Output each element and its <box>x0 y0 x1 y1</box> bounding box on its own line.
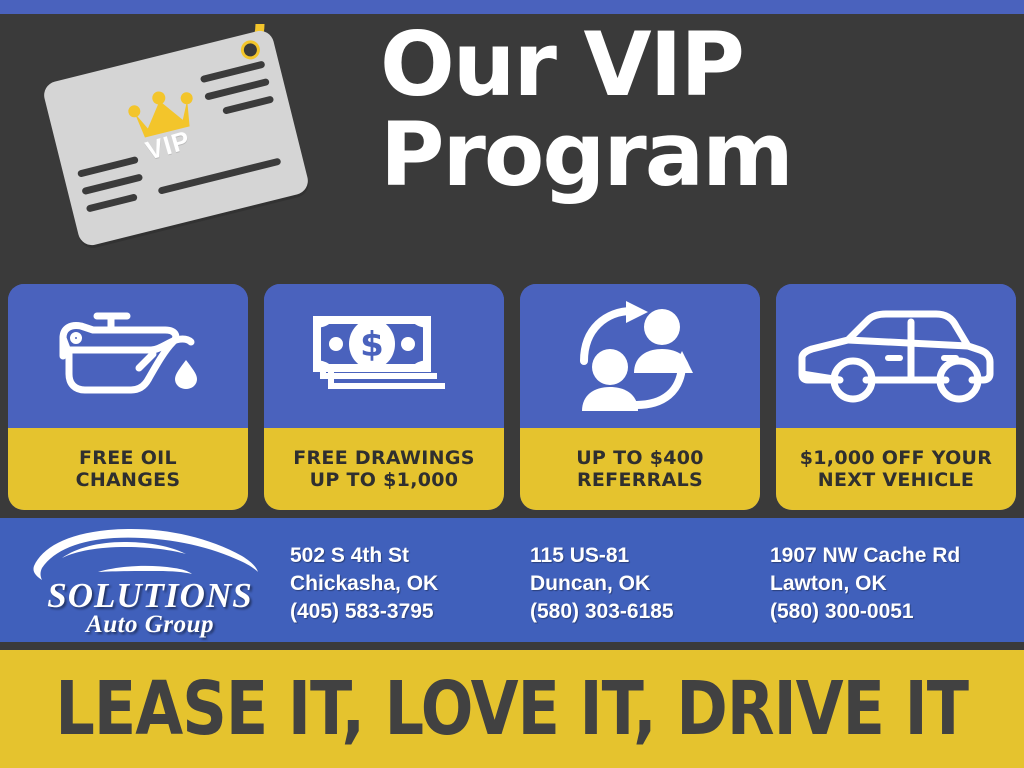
logo-subtitle: Auto Group <box>34 612 266 637</box>
tagline-text: LEASE IT, LOVE IT, DRIVE IT <box>56 672 969 746</box>
benefit-card-icon-area <box>776 284 1016 428</box>
benefit-card-label: FREE DRAWINGS UP TO $1,000 <box>264 428 504 510</box>
vip-card-detail-line <box>86 193 138 212</box>
location-chickasha: 502 S 4th St Chickasha, OK (405) 583-379… <box>290 542 530 626</box>
vip-card-detail-line <box>77 156 139 178</box>
benefit-card-label: UP TO $400 REFERRALS <box>520 428 760 510</box>
location-duncan: 115 US-81 Duncan, OK (580) 303-6185 <box>530 542 770 626</box>
location-phone[interactable]: (580) 303-6185 <box>530 598 770 626</box>
benefit-label-line-2: REFERRALS <box>577 469 703 491</box>
benefit-card-referrals[interactable]: UP TO $400 REFERRALS <box>520 284 760 510</box>
location-lawton: 1907 NW Cache Rd Lawton, OK (580) 300-00… <box>770 542 1010 626</box>
tagline-band: LEASE IT, LOVE IT, DRIVE IT <box>0 650 1024 768</box>
benefit-card-icon-area: $ <box>264 284 504 428</box>
location-phone[interactable]: (405) 583-3795 <box>290 598 530 626</box>
brand-logo[interactable]: SOLUTIONS Auto Group <box>26 524 266 636</box>
headline-line-2: Program <box>380 112 1000 198</box>
benefit-card-icon-area <box>8 284 248 428</box>
benefit-card-list: FREE OIL CHANGES <box>8 284 1016 510</box>
benefit-label-line-1: $1,000 OFF YOUR <box>800 447 992 469</box>
vip-program-poster: VIP Our VIP Program <box>0 0 1024 768</box>
referral-people-icon <box>570 301 710 411</box>
vip-card-detail-line <box>81 173 143 195</box>
benefit-card-label: $1,000 OFF YOUR NEXT VEHICLE <box>776 428 1016 510</box>
benefit-label-line-2: NEXT VEHICLE <box>818 469 974 491</box>
vip-card-detail-line <box>222 95 274 114</box>
location-city: Lawton, OK <box>770 570 1010 598</box>
top-blue-rule <box>0 0 1024 14</box>
location-city: Chickasha, OK <box>290 570 530 598</box>
benefit-card-icon-area <box>520 284 760 428</box>
oil-can-icon <box>53 308 203 404</box>
money-stack-icon: $ <box>309 306 459 406</box>
location-city: Duncan, OK <box>530 570 770 598</box>
benefit-card-label: FREE OIL CHANGES <box>8 428 248 510</box>
location-street: 115 US-81 <box>530 542 770 570</box>
location-phone[interactable]: (580) 300-0051 <box>770 598 1010 626</box>
hero-section: VIP Our VIP Program <box>0 14 1024 278</box>
car-icon <box>796 306 996 406</box>
location-list: 502 S 4th St Chickasha, OK (405) 583-379… <box>290 542 1010 626</box>
logo-name: SOLUTIONS <box>34 578 266 613</box>
benefit-card-free-drawings[interactable]: $ FREE DRAWINGS UP TO $1,000 <box>264 284 504 510</box>
benefit-label-line-1: FREE DRAWINGS <box>293 447 475 469</box>
benefit-card-next-vehicle[interactable]: $1,000 OFF YOUR NEXT VEHICLE <box>776 284 1016 510</box>
svg-text:$: $ <box>360 325 384 365</box>
vip-card-detail-line <box>200 60 266 83</box>
benefit-card-oil-changes[interactable]: FREE OIL CHANGES <box>8 284 248 510</box>
location-street: 1907 NW Cache Rd <box>770 542 1010 570</box>
benefit-label-line-2: CHANGES <box>76 469 181 491</box>
benefit-label-line-1: UP TO $400 <box>576 447 704 469</box>
location-street: 502 S 4th St <box>290 542 530 570</box>
page-title: Our VIP Program <box>380 22 1000 198</box>
contact-bar: SOLUTIONS Auto Group 502 S 4th St Chicka… <box>0 518 1024 642</box>
benefit-label-line-1: FREE OIL <box>79 447 177 469</box>
vip-card-hole <box>243 42 259 58</box>
headline-line-1: Our VIP <box>380 22 1000 108</box>
benefit-label-line-2: UP TO $1,000 <box>310 469 459 491</box>
vip-badge-illustration: VIP <box>28 24 328 264</box>
vip-card-detail-line <box>158 157 282 194</box>
